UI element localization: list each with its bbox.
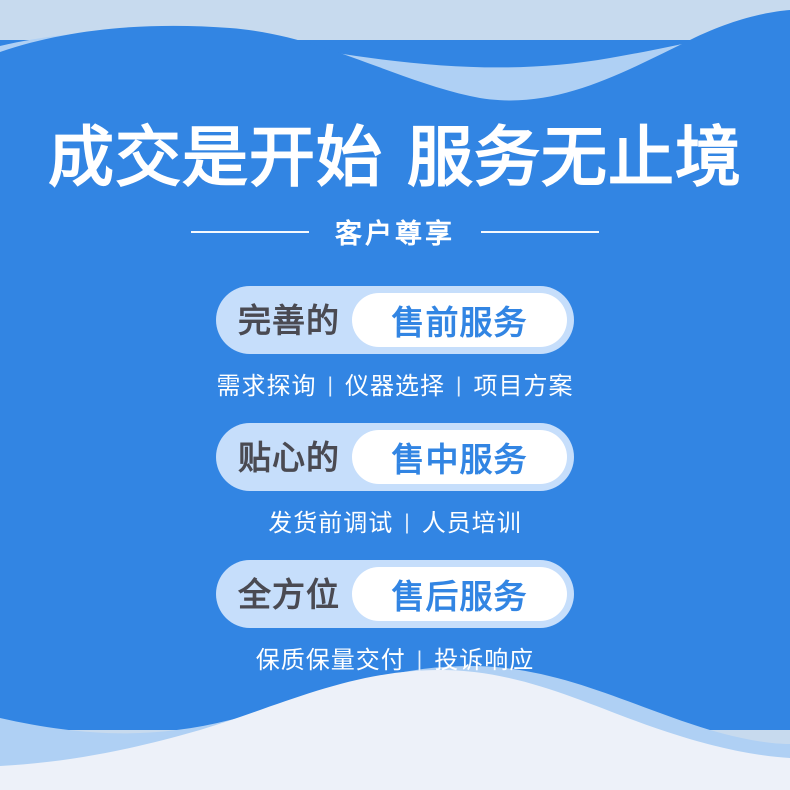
service-item-separator: | (393, 511, 421, 535)
service-item: 发货前调试 (268, 510, 393, 537)
service-pill-prefix: 贴心的 (238, 441, 352, 474)
subtitle-row: 客户尊享 (0, 212, 790, 251)
service-blocks: 完善的 售前服务 需求探询|仪器选择|项目方案 贴心的 售中服务 发货前调试|人… (0, 286, 790, 675)
subtitle-rule-left (191, 231, 309, 233)
subtitle-text: 客户尊享 (335, 212, 455, 251)
service-item: 仪器选择 (345, 373, 445, 400)
service-pill-presale[interactable]: 完善的 售前服务 (216, 286, 574, 354)
service-items-midsale: 发货前调试|人员培训 (0, 503, 790, 538)
service-pill-prefix: 全方位 (238, 578, 352, 611)
headline-right: 服务无止境 (407, 120, 742, 194)
service-pill-tag: 售前服务 (352, 293, 567, 347)
subtitle-rule-right (481, 231, 599, 233)
service-item-separator: | (317, 374, 345, 398)
service-block-midsale: 贴心的 售中服务 发货前调试|人员培训 (0, 423, 790, 538)
service-pill-midsale[interactable]: 贴心的 售中服务 (216, 423, 574, 491)
service-item: 人员培训 (422, 510, 522, 537)
service-item: 保质保量交付 (256, 647, 406, 674)
service-items-aftersale: 保质保量交付|投诉响应 (0, 640, 790, 675)
service-item-separator: | (406, 648, 434, 672)
headline-left: 成交是开始 (48, 120, 383, 194)
service-pill-tag: 售后服务 (352, 567, 567, 621)
service-pill-tag: 售中服务 (352, 430, 567, 484)
service-block-presale: 完善的 售前服务 需求探询|仪器选择|项目方案 (0, 286, 790, 401)
service-item-separator: | (445, 374, 473, 398)
service-item: 需求探询 (217, 373, 317, 400)
page-title: 成交是开始服务无止境 (0, 124, 790, 191)
service-promise-poster: 成交是开始服务无止境 客户尊享 完善的 售前服务 需求探询|仪器选择|项目方案 (0, 0, 790, 790)
service-block-aftersale: 全方位 售后服务 保质保量交付|投诉响应 (0, 560, 790, 675)
service-pill-aftersale[interactable]: 全方位 售后服务 (216, 560, 574, 628)
service-item: 项目方案 (473, 373, 573, 400)
service-pill-prefix: 完善的 (238, 304, 352, 337)
service-item: 投诉响应 (434, 647, 534, 674)
service-items-presale: 需求探询|仪器选择|项目方案 (0, 366, 790, 401)
